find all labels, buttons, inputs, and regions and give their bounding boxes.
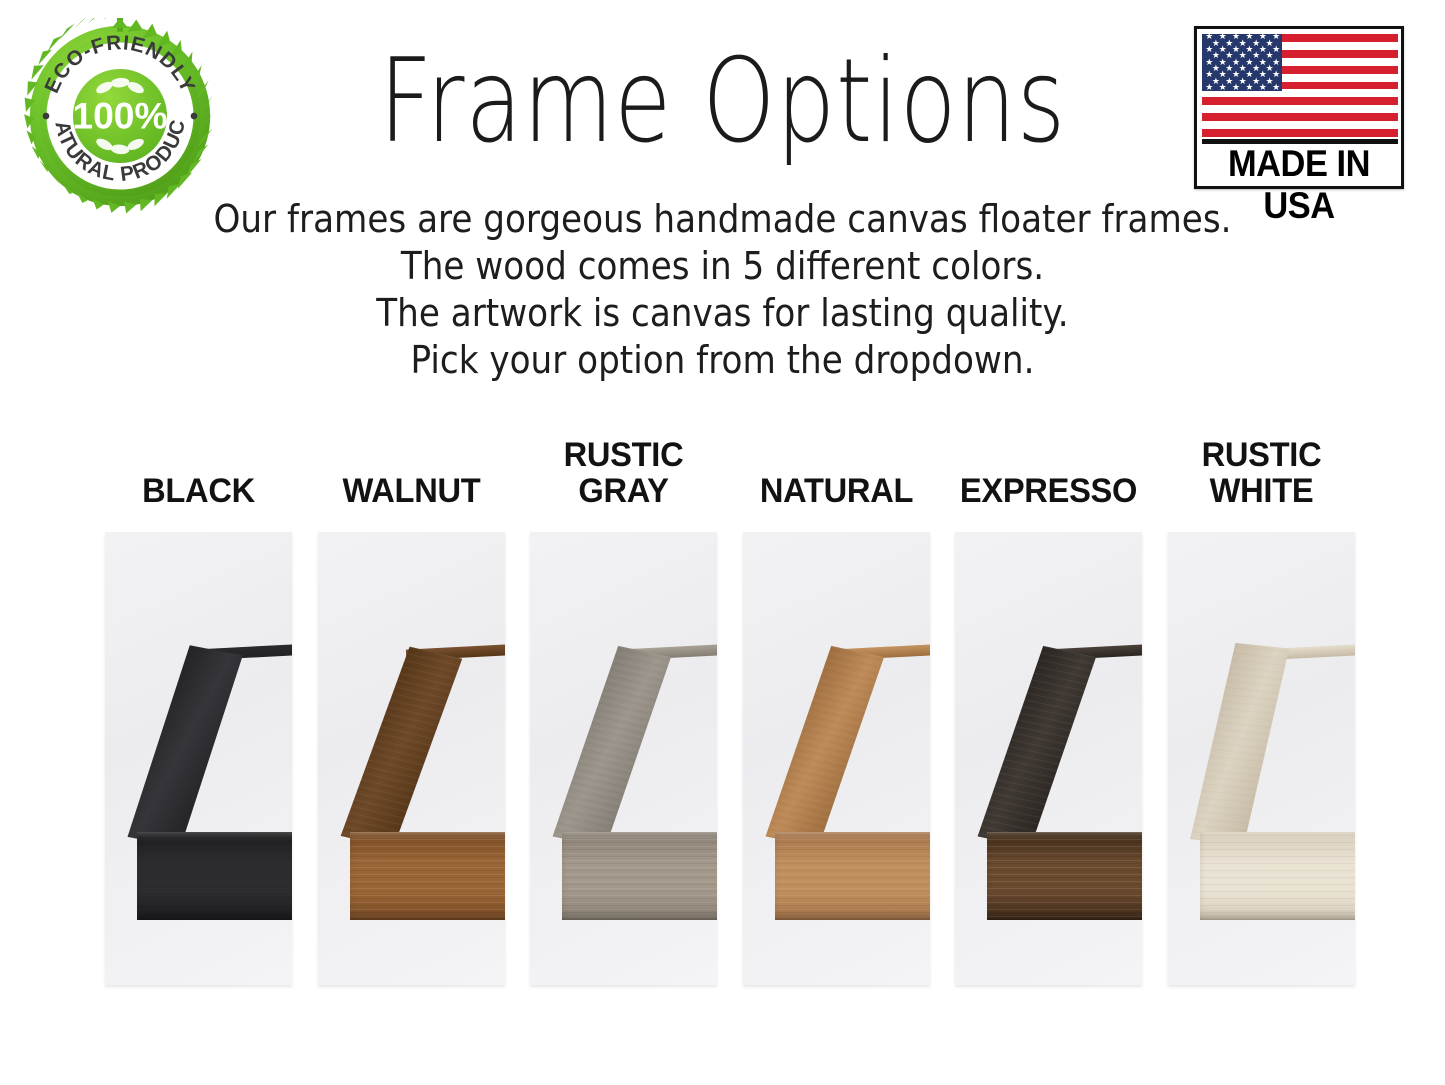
frame-swatch-natural[interactable]: NATURAL xyxy=(743,440,930,985)
frame-front-rail xyxy=(350,832,505,920)
frame-photo-stage xyxy=(955,532,1142,985)
frame-label-line: WHITE xyxy=(1158,473,1364,509)
frame-side-rail xyxy=(340,647,462,848)
page-title: Frame Options xyxy=(145,44,1301,160)
frame-photo-rustic-gray xyxy=(530,532,717,985)
frame-photo-stage xyxy=(1168,532,1355,985)
frame-swatch-black[interactable]: BLACK xyxy=(105,440,292,985)
frame-label-line: WALNUT xyxy=(308,473,514,509)
frame-label-line: RUSTIC xyxy=(520,437,726,473)
frame-side-rail xyxy=(127,645,242,847)
wood-grain xyxy=(1190,643,1289,845)
frame-label-walnut: WALNUT xyxy=(308,473,514,509)
wood-grain xyxy=(340,647,462,848)
frame-label-rustic-gray: RUSTICGRAY xyxy=(520,437,726,509)
frame-swatch-walnut[interactable]: WALNUT xyxy=(318,440,505,985)
intro-line-2: The wood comes in 5 different colors. xyxy=(72,243,1373,290)
rail-shading xyxy=(562,832,717,920)
frame-photo-stage xyxy=(743,532,930,985)
frame-photo-rustic-white xyxy=(1168,532,1355,985)
frame-swatch-rustic-white[interactable]: RUSTICWHITE xyxy=(1168,440,1355,985)
intro-paragraph: Our frames are gorgeous handmade canvas … xyxy=(0,196,1445,384)
rail-shading xyxy=(775,832,930,920)
frame-front-rail xyxy=(1200,832,1355,920)
frame-photo-stage xyxy=(105,532,292,985)
rail-shading xyxy=(137,832,292,920)
frame-photo-black xyxy=(105,532,292,985)
frame-swatch-row: BLACKWALNUTRUSTICGRAYNATURALEXPRESSORUST… xyxy=(105,440,1370,1000)
frame-label-line: NATURAL xyxy=(733,473,939,509)
frame-label-rustic-white: RUSTICWHITE xyxy=(1158,437,1364,509)
frame-swatch-expresso[interactable]: EXPRESSO xyxy=(955,440,1142,985)
frame-side-rail xyxy=(1190,643,1289,845)
frame-front-rail xyxy=(137,832,292,920)
frame-label-natural: NATURAL xyxy=(733,473,939,509)
frame-photo-stage xyxy=(530,532,717,985)
rail-shading xyxy=(1200,832,1355,920)
frame-photo-natural xyxy=(743,532,930,985)
frame-label-line: RUSTIC xyxy=(1158,437,1364,473)
frame-options-infographic: ECO-FRIENDLY NATURAL PRODUCT 100% ★★ xyxy=(0,0,1445,1085)
intro-line-3: The artwork is canvas for lasting qualit… xyxy=(72,290,1373,337)
wood-grain xyxy=(765,646,883,848)
frame-front-rail xyxy=(562,832,717,920)
frame-label-line: GRAY xyxy=(520,473,726,509)
wood-grain xyxy=(553,646,671,848)
frame-label-expresso: EXPRESSO xyxy=(946,473,1152,509)
intro-line-1: Our frames are gorgeous handmade canvas … xyxy=(72,196,1373,243)
frame-photo-expresso xyxy=(955,532,1142,985)
frame-label-line: BLACK xyxy=(95,473,301,509)
wood-grain xyxy=(127,645,242,847)
rail-shading xyxy=(350,832,505,920)
frame-photo-walnut xyxy=(318,532,505,985)
frame-swatch-rustic-gray[interactable]: RUSTICGRAY xyxy=(530,440,717,985)
frame-front-rail xyxy=(987,832,1142,920)
frame-label-black: BLACK xyxy=(95,473,301,509)
frame-side-rail xyxy=(765,646,883,848)
frame-front-rail xyxy=(775,832,930,920)
frame-side-rail xyxy=(553,646,671,848)
rail-shading xyxy=(987,832,1142,920)
frame-label-line: EXPRESSO xyxy=(946,473,1152,509)
wood-grain xyxy=(978,646,1096,848)
frame-side-rail xyxy=(978,646,1096,848)
intro-line-4: Pick your option from the dropdown. xyxy=(72,337,1373,384)
frame-photo-stage xyxy=(318,532,505,985)
